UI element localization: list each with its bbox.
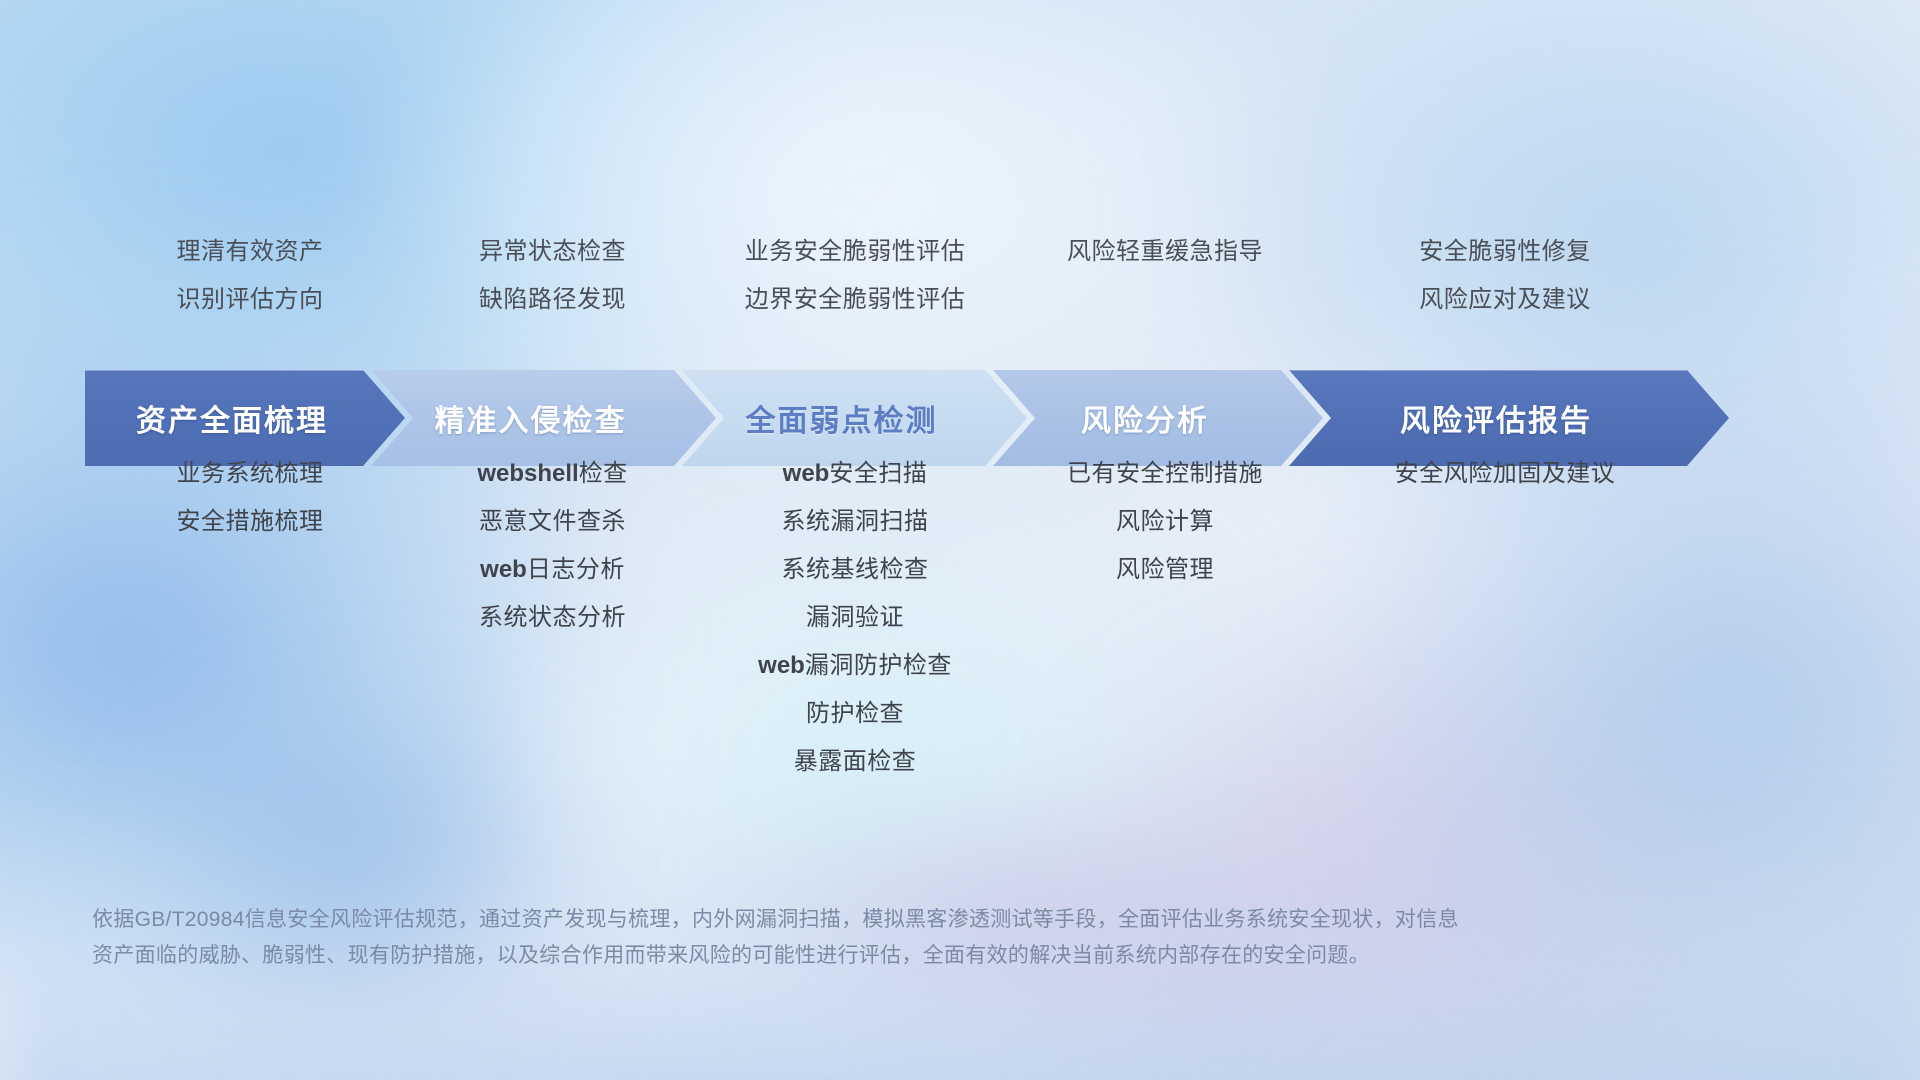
detail-bold: web: [758, 652, 805, 679]
detail-text: 暴露面检查: [794, 748, 917, 775]
detail-text: 系统状态分析: [479, 604, 626, 631]
top-item: 理清有效资产: [85, 228, 415, 276]
detail-text: 业务系统梳理: [177, 460, 324, 487]
detail-text: 安全措施梳理: [177, 508, 324, 535]
detail-item: 系统状态分析: [415, 594, 690, 642]
detail-item: 已有安全控制措施: [1020, 450, 1310, 498]
detail-text: 安全风险加固及建议: [1395, 460, 1616, 487]
detail-text: 风险管理: [1116, 556, 1214, 583]
detail-item: web安全扫描: [690, 450, 1020, 498]
detail-text: 已有安全控制措施: [1067, 460, 1263, 487]
top-item: 缺陷路径发现: [415, 276, 690, 324]
top-column-5: 安全脆弱性修复 风险应对及建议: [1310, 228, 1700, 324]
top-item: 识别评估方向: [85, 276, 415, 324]
detail-bold: webshell: [477, 460, 578, 487]
stage-title: 资产全面梳理: [136, 396, 354, 440]
top-column-2: 异常状态检查 缺陷路径发现: [415, 228, 690, 324]
top-item: 异常状态检查: [415, 228, 690, 276]
detail-item: 防护检查: [690, 690, 1020, 738]
detail-text: 系统基线检查: [782, 556, 929, 583]
stage-title: 风险评估报告: [1400, 396, 1618, 440]
footer-line-1: 依据GB/T20984信息安全风险评估规范，通过资产发现与梳理，内外网漏洞扫描，…: [92, 902, 1652, 938]
top-item: 风险应对及建议: [1310, 276, 1700, 324]
detail-text: 检查: [579, 460, 628, 487]
top-item: 业务安全脆弱性评估: [690, 228, 1020, 276]
detail-item: 安全风险加固及建议: [1310, 450, 1700, 498]
detail-text: 日志分析: [527, 556, 625, 583]
top-descriptor-row: 理清有效资产 识别评估方向 异常状态检查 缺陷路径发现 业务安全脆弱性评估 边界…: [85, 228, 1865, 324]
top-item: 边界安全脆弱性评估: [690, 276, 1020, 324]
detail-text: 安全扫描: [829, 460, 927, 487]
top-column-1: 理清有效资产 识别评估方向: [85, 228, 415, 324]
top-item: 安全脆弱性修复: [1310, 228, 1700, 276]
top-column-4: 风险轻重缓急指导: [1020, 228, 1310, 324]
detail-bold: web: [783, 460, 830, 487]
detail-item: 风险管理: [1020, 546, 1310, 594]
bottom-column-5: 安全风险加固及建议: [1310, 450, 1700, 786]
bottom-column-2: webshell检查 恶意文件查杀 web日志分析 系统状态分析: [415, 450, 690, 786]
footer-line-2: 资产面临的威胁、脆弱性、现有防护措施，以及综合作用而带来风险的可能性进行评估，全…: [92, 938, 1652, 974]
detail-item: 恶意文件查杀: [415, 498, 690, 546]
bottom-detail-row: 业务系统梳理 安全措施梳理 webshell检查 恶意文件查杀 web日志分析 …: [85, 450, 1865, 786]
detail-text: 风险计算: [1116, 508, 1214, 535]
detail-bold: web: [480, 556, 527, 583]
detail-item: 漏洞验证: [690, 594, 1020, 642]
detail-item: web漏洞防护检查: [690, 642, 1020, 690]
detail-text: 防护检查: [806, 700, 904, 727]
bottom-column-4: 已有安全控制措施 风险计算 风险管理: [1020, 450, 1310, 786]
bottom-column-3: web安全扫描 系统漏洞扫描 系统基线检查 漏洞验证 web漏洞防护检查 防护检…: [690, 450, 1020, 786]
stage-title: 全面弱点检测: [746, 396, 964, 440]
detail-item: 业务系统梳理: [85, 450, 415, 498]
detail-item: webshell检查: [415, 450, 690, 498]
process-diagram: 理清有效资产 识别评估方向 异常状态检查 缺陷路径发现 业务安全脆弱性评估 边界…: [0, 0, 1920, 1080]
top-column-3: 业务安全脆弱性评估 边界安全脆弱性评估: [690, 228, 1020, 324]
detail-text: 系统漏洞扫描: [782, 508, 929, 535]
footer-description: 依据GB/T20984信息安全风险评估规范，通过资产发现与梳理，内外网漏洞扫描，…: [92, 902, 1652, 974]
top-item: 风险轻重缓急指导: [1020, 228, 1310, 276]
detail-text: 漏洞验证: [806, 604, 904, 631]
bottom-column-1: 业务系统梳理 安全措施梳理: [85, 450, 415, 786]
detail-text: 恶意文件查杀: [479, 508, 626, 535]
stage-title: 风险分析: [1081, 396, 1235, 440]
detail-item: 系统漏洞扫描: [690, 498, 1020, 546]
detail-item: 风险计算: [1020, 498, 1310, 546]
detail-item: 安全措施梳理: [85, 498, 415, 546]
detail-item: web日志分析: [415, 546, 690, 594]
detail-text: 漏洞防护检查: [805, 652, 952, 679]
detail-item: 系统基线检查: [690, 546, 1020, 594]
stage-title: 精准入侵检查: [435, 396, 653, 440]
detail-item: 暴露面检查: [690, 738, 1020, 786]
